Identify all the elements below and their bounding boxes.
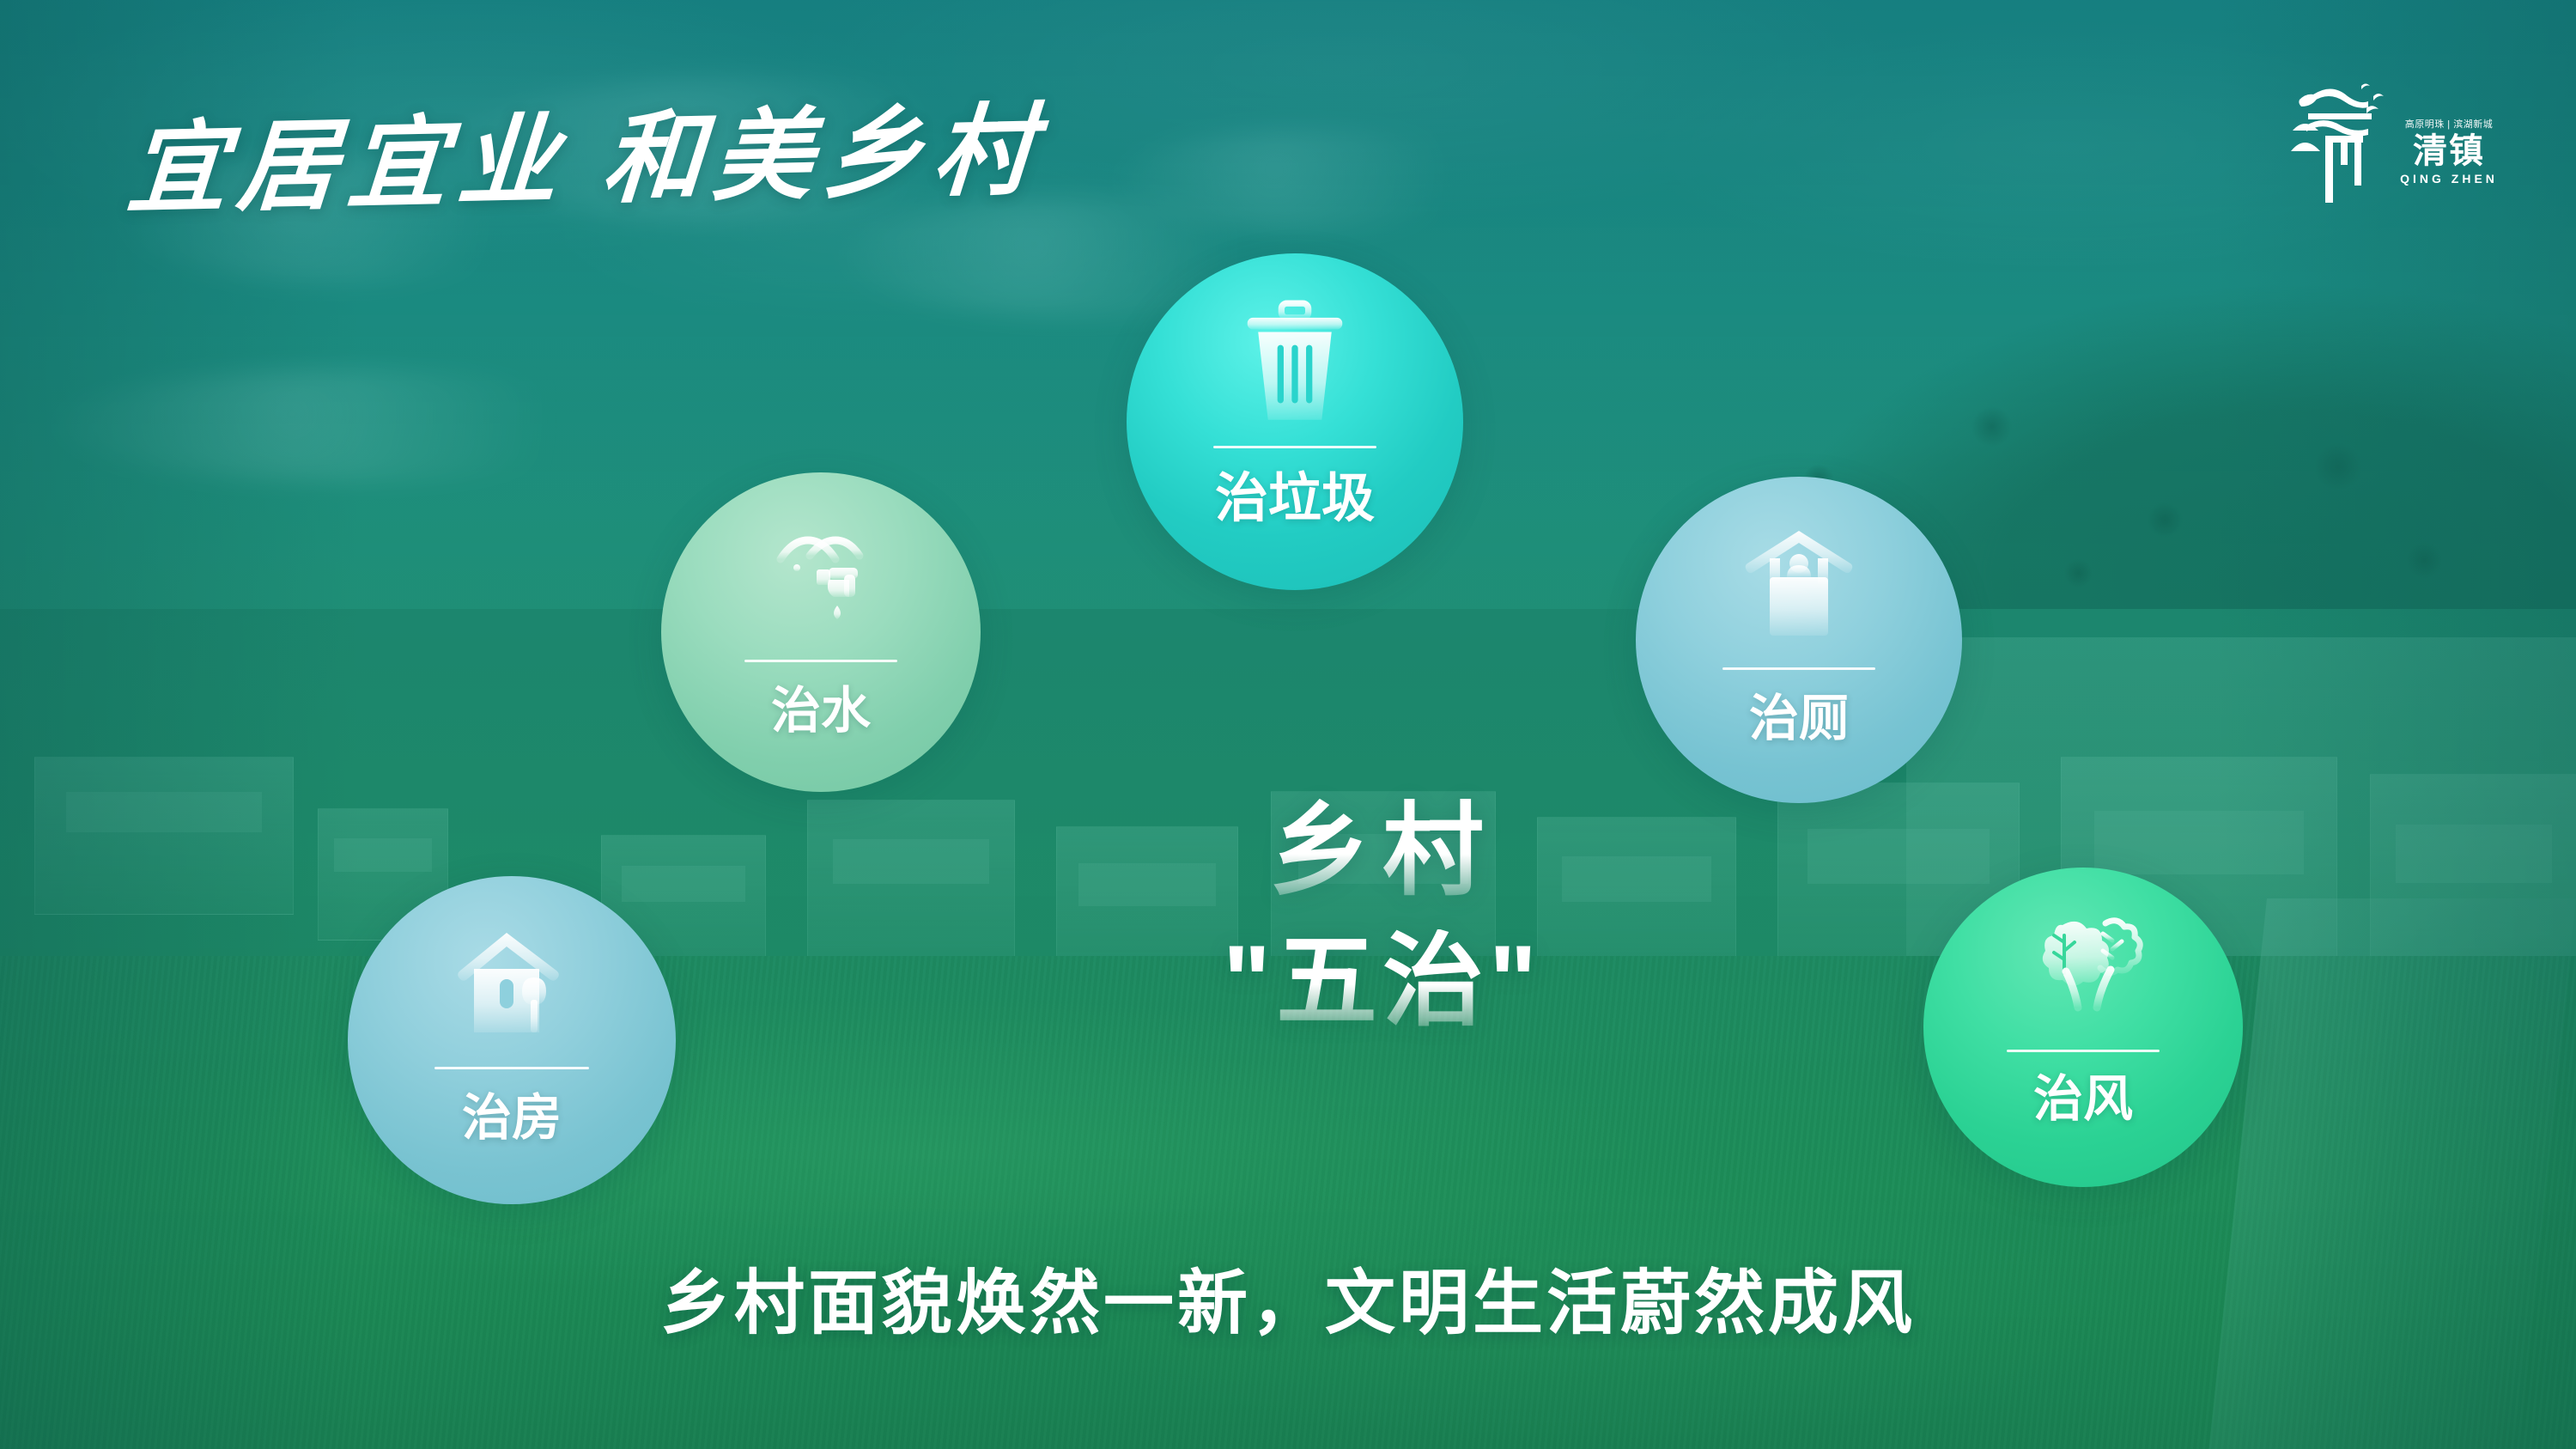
bubble-label-trash: 治垃圾 — [1215, 472, 1375, 526]
page-title: 宜居宜业 和美乡村 — [124, 70, 1049, 233]
house-tree-icon — [348, 921, 676, 1048]
center-heading: 乡村 "五治" — [1142, 799, 1623, 1036]
qing-calligraphy-mark-icon — [2287, 76, 2396, 204]
trees-bushes-icon — [1923, 910, 2243, 1031]
bubble-label-wind: 治风 — [2033, 1075, 2133, 1124]
brand-logo[interactable]: 高原明珠 | 滨湖新城 清镇 QING ZHEN — [2287, 76, 2502, 204]
bubble-divider — [1213, 446, 1376, 448]
bubble-house[interactable]: 治房 — [348, 876, 676, 1204]
logo-name-cn: 清镇 — [2396, 133, 2502, 169]
bubble-divider — [2007, 1050, 2160, 1052]
bubble-divider — [744, 660, 897, 662]
bubble-label-house: 治房 — [462, 1093, 562, 1143]
logo-tagline: 高原明珠 | 滨湖新城 — [2396, 120, 2502, 130]
bubble-water[interactable]: 治水 — [661, 472, 981, 792]
faucet-water-drop-icon — [661, 522, 981, 642]
footer-caption: 乡村面貌焕然一新，文明生活蔚然成风 — [0, 1245, 2576, 1348]
poster-canvas: 宜居宜业 和美乡村 — [0, 0, 2576, 1449]
bubble-toilet[interactable]: 治厕 — [1636, 477, 1962, 803]
bubble-divider — [434, 1067, 589, 1069]
center-heading-line2: "五治" — [1142, 929, 1623, 1036]
bubble-wind[interactable]: 治风 — [1923, 868, 2243, 1187]
logo-name-en: QING ZHEN — [2396, 172, 2502, 186]
bubble-label-water: 治水 — [771, 686, 871, 736]
bubble-divider — [1722, 667, 1875, 670]
bubble-trash[interactable]: 治垃圾 — [1127, 253, 1463, 590]
outhouse-toilet-icon — [1636, 520, 1962, 648]
center-heading-line1: 乡村 — [1142, 799, 1623, 905]
bubble-label-toilet: 治厕 — [1749, 694, 1849, 744]
trash-bin-icon — [1127, 298, 1463, 427]
brand-logo-text: 高原明珠 | 滨湖新城 清镇 QING ZHEN — [2396, 120, 2502, 186]
